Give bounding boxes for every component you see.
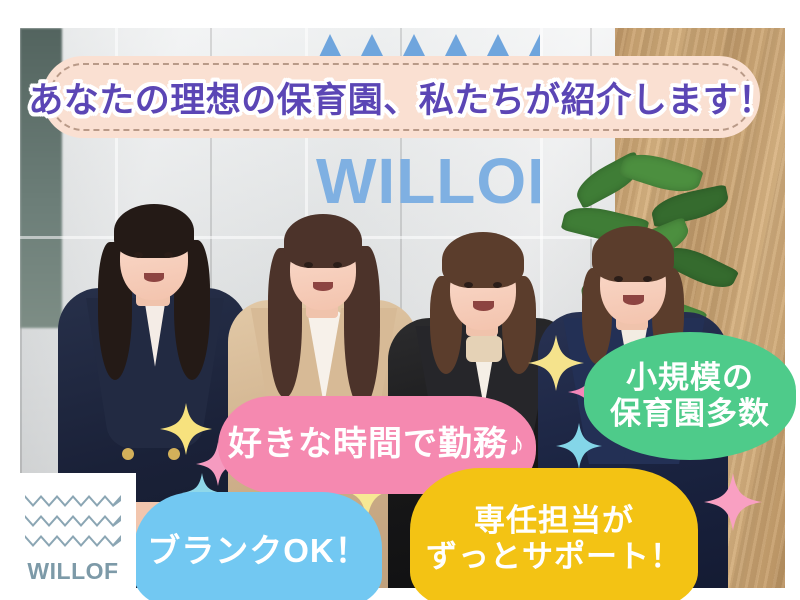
person-1-eye-left	[134, 252, 143, 258]
person-1-button	[122, 448, 134, 460]
person-2-eye-left	[304, 262, 313, 268]
sparkle-pink-right-icon	[704, 470, 762, 534]
person-4-hair	[592, 226, 674, 282]
willof-logo: WILLOF	[10, 473, 136, 600]
person-4-smile	[623, 295, 644, 305]
bubble-green-line-2: 保育園多数	[610, 396, 770, 432]
person-2-smile	[313, 282, 333, 291]
person-3-eye-left	[464, 282, 473, 288]
bubble-yellow-line-2: ずっとサポート！	[426, 539, 682, 575]
person-3-eye-right	[493, 282, 502, 288]
person-4-eye-left	[614, 276, 623, 282]
bubble-career-gap-ok: ブランクOK！	[134, 492, 382, 600]
headline-text: あなたの理想の保育園、私たちが紹介します！	[28, 72, 774, 123]
person-1-eye-right	[164, 252, 173, 258]
willof-zigzag-row-2	[25, 512, 121, 527]
person-3-hair	[442, 232, 524, 288]
bubble-pink-line-1: 好きな時間で勤務♪	[228, 425, 526, 464]
person-3-scarf	[466, 336, 502, 362]
bubble-blue-line-1: ブランクOK！	[147, 532, 369, 570]
bubble-dedicated-support: 専任担当が ずっとサポート！	[410, 468, 698, 600]
person-1-hair	[114, 204, 194, 258]
willof-wordmark: WILLOF	[27, 558, 118, 585]
bubble-small-nurseries: 小規模の 保育園多数	[584, 332, 796, 460]
willof-zigzag-row-3	[25, 532, 121, 547]
person-2-hair	[284, 214, 362, 268]
bubble-green-line-1: 小規模の	[626, 360, 754, 396]
person-1-smile	[144, 273, 164, 282]
person-2-eye-right	[333, 262, 342, 268]
person-3-smile	[473, 301, 494, 311]
headline-banner: あなたの理想の保育園、私たちが紹介します！	[42, 56, 760, 138]
bubble-yellow-line-1: 専任担当が	[474, 503, 634, 539]
advertisement-canvas: WILLOF	[0, 0, 800, 600]
person-4-eye-right	[643, 276, 652, 282]
willof-zigzag-row-1	[25, 492, 121, 507]
